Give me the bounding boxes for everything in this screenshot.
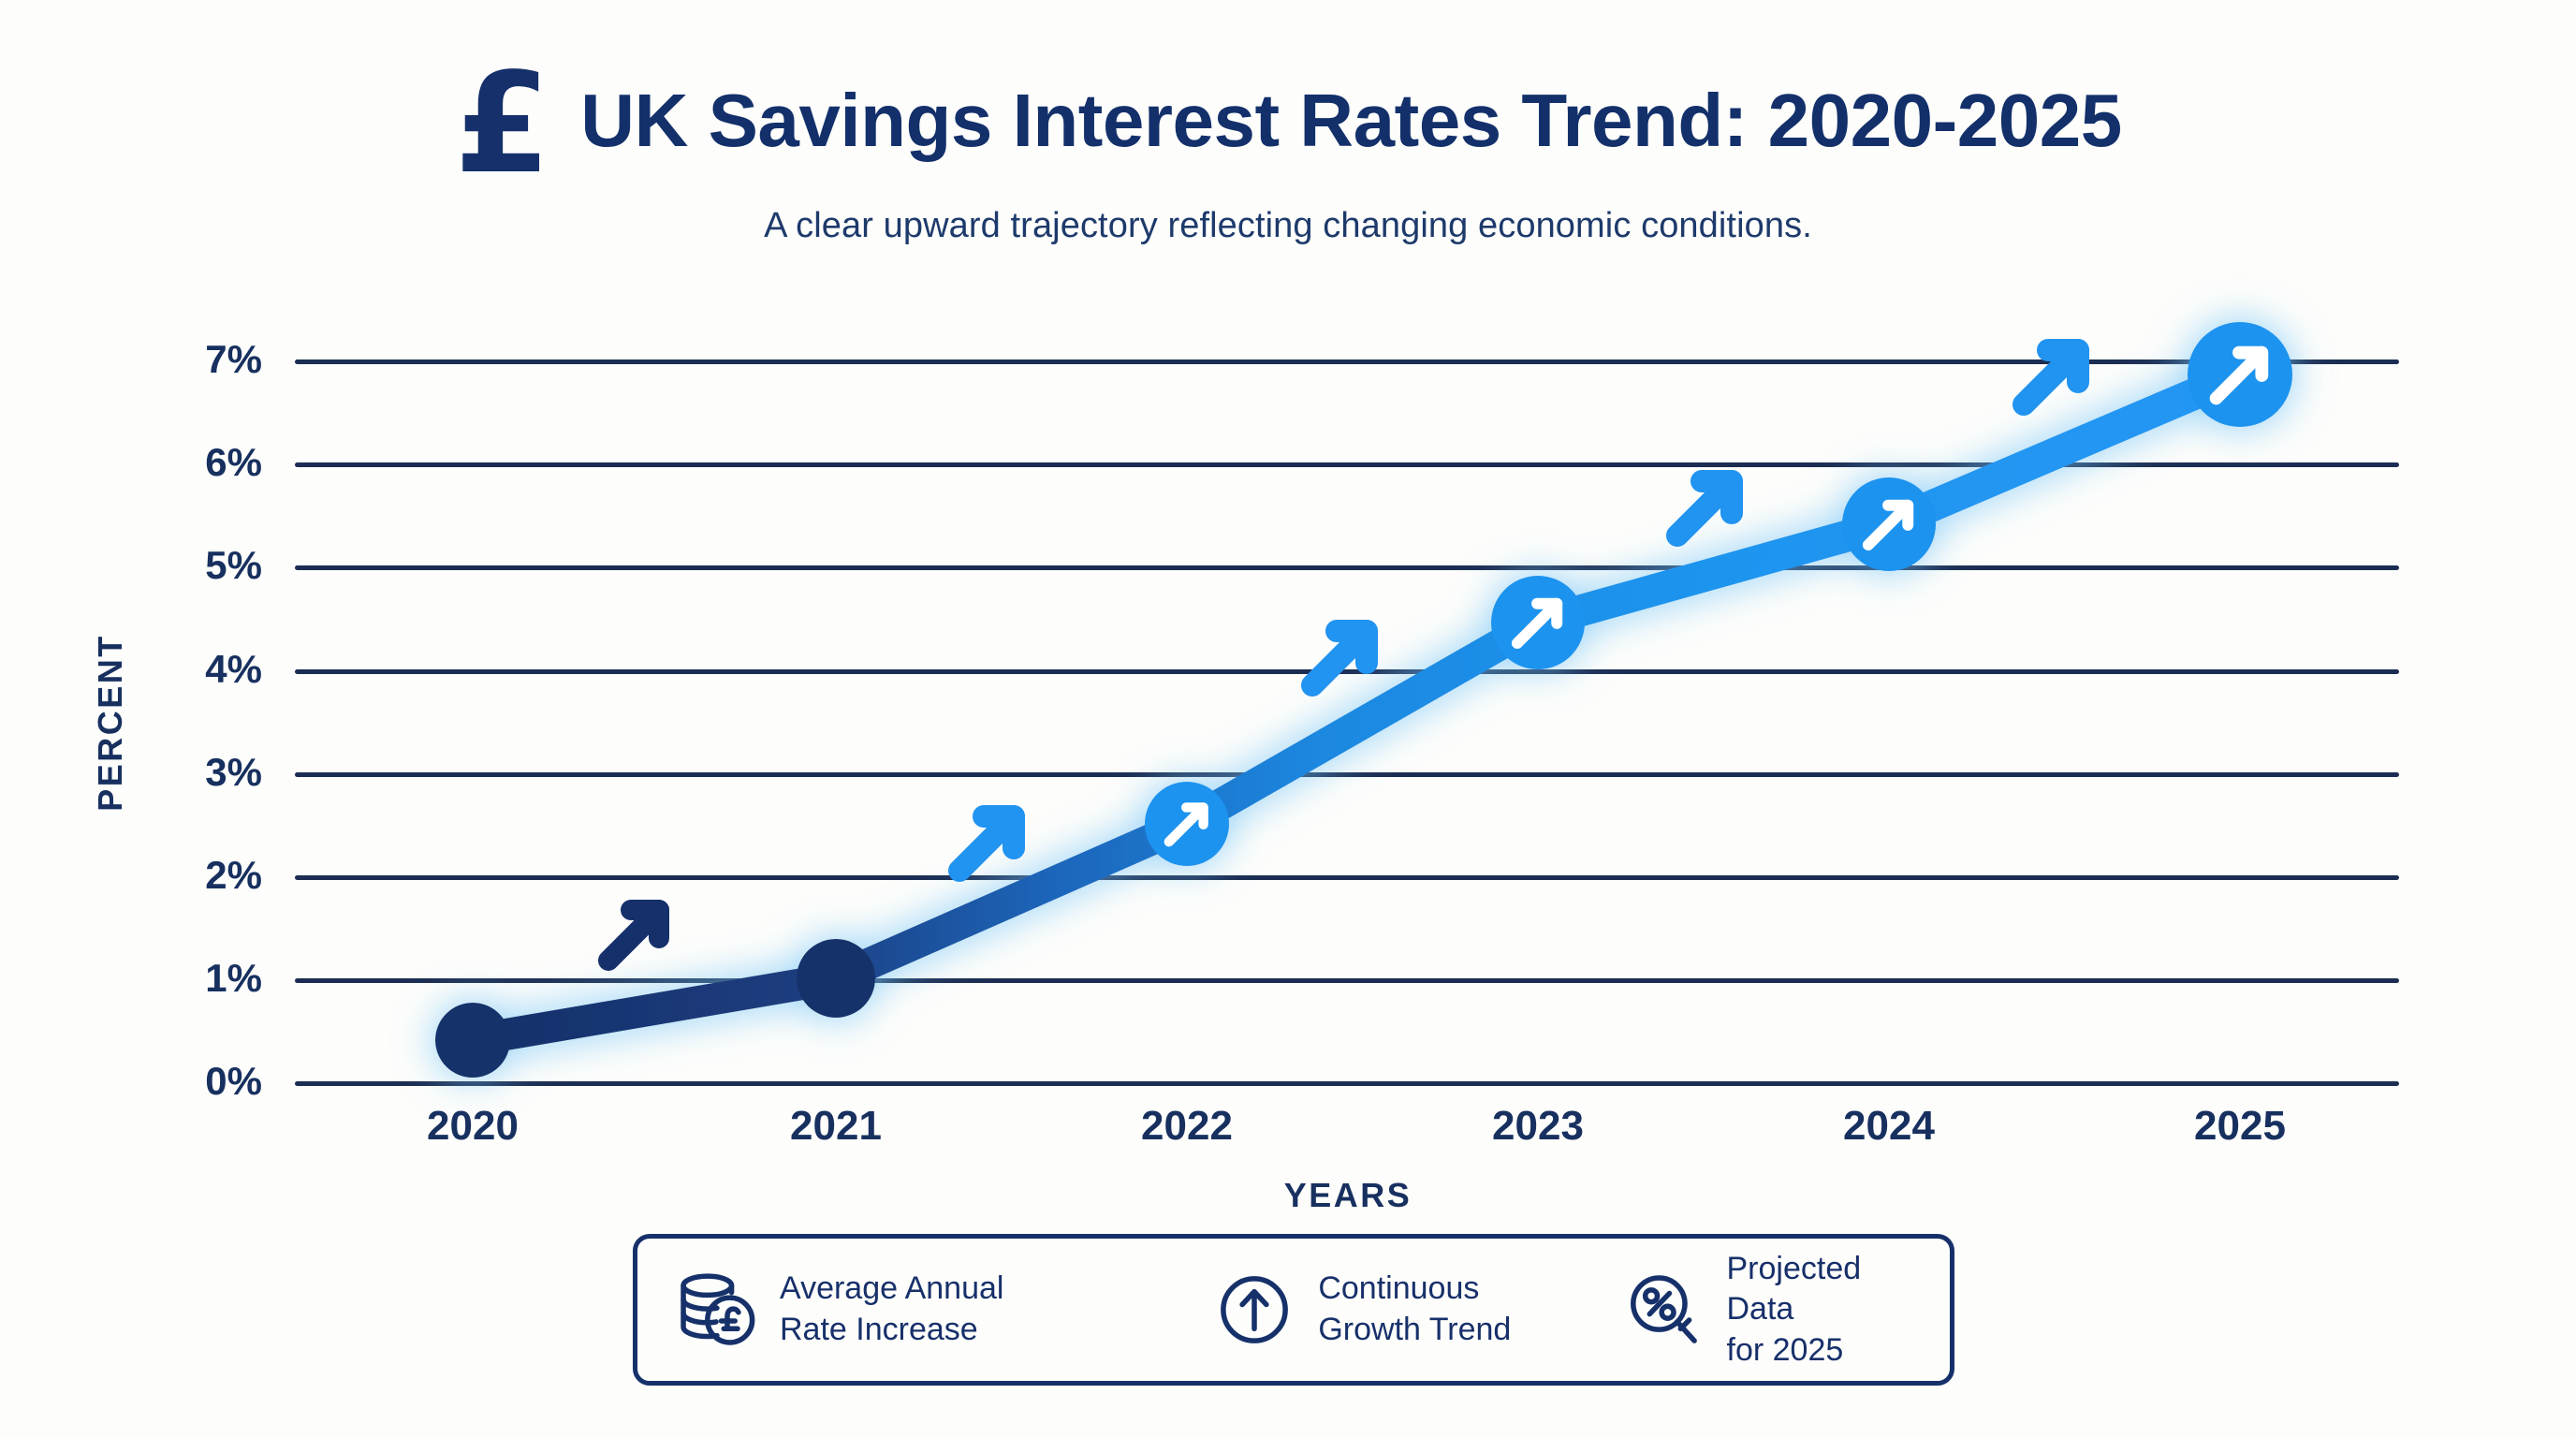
- series-line-average-annual-rate: [473, 374, 2240, 1040]
- magnifier-percent-icon: [1620, 1267, 1706, 1353]
- chart-legend: Average Annual Rate Increase Continuous …: [633, 1234, 1954, 1386]
- legend-label-continuous-growth: Continuous Growth Trend: [1318, 1269, 1511, 1350]
- legend-label-projected-data: Projected Data for 2025: [1727, 1249, 1915, 1372]
- trend-arrow-2023-2024-icon: [1677, 481, 1732, 536]
- trend-arrow-2024-2025-icon: [2024, 350, 2078, 404]
- legend-item-average-annual-rate[interactable]: Average Annual Rate Increase: [673, 1267, 1211, 1353]
- data-point-2021[interactable]: [797, 939, 875, 1018]
- legend-label-average-annual-rate: Average Annual Rate Increase: [780, 1269, 1003, 1350]
- circle-up-arrow-icon: [1211, 1267, 1297, 1353]
- legend-item-projected-data[interactable]: Projected Data for 2025: [1620, 1249, 1915, 1372]
- series-line-group: [435, 322, 2292, 1078]
- trend-annotation-arrows: [608, 350, 2078, 961]
- chart-series-layer: [0, 0, 2576, 1438]
- legend-item-continuous-growth[interactable]: Continuous Growth Trend: [1211, 1267, 1619, 1353]
- chart-canvas: £ UK Savings Interest Rates Trend: 2020-…: [0, 0, 2576, 1438]
- trend-arrow-2022-2023-icon: [1312, 631, 1367, 685]
- data-point-2020[interactable]: [435, 1003, 510, 1078]
- trend-arrow-2021-2022-icon: [959, 816, 1014, 871]
- trend-arrow-2020-2021-icon: [608, 910, 659, 961]
- coins-pound-icon: [673, 1267, 759, 1353]
